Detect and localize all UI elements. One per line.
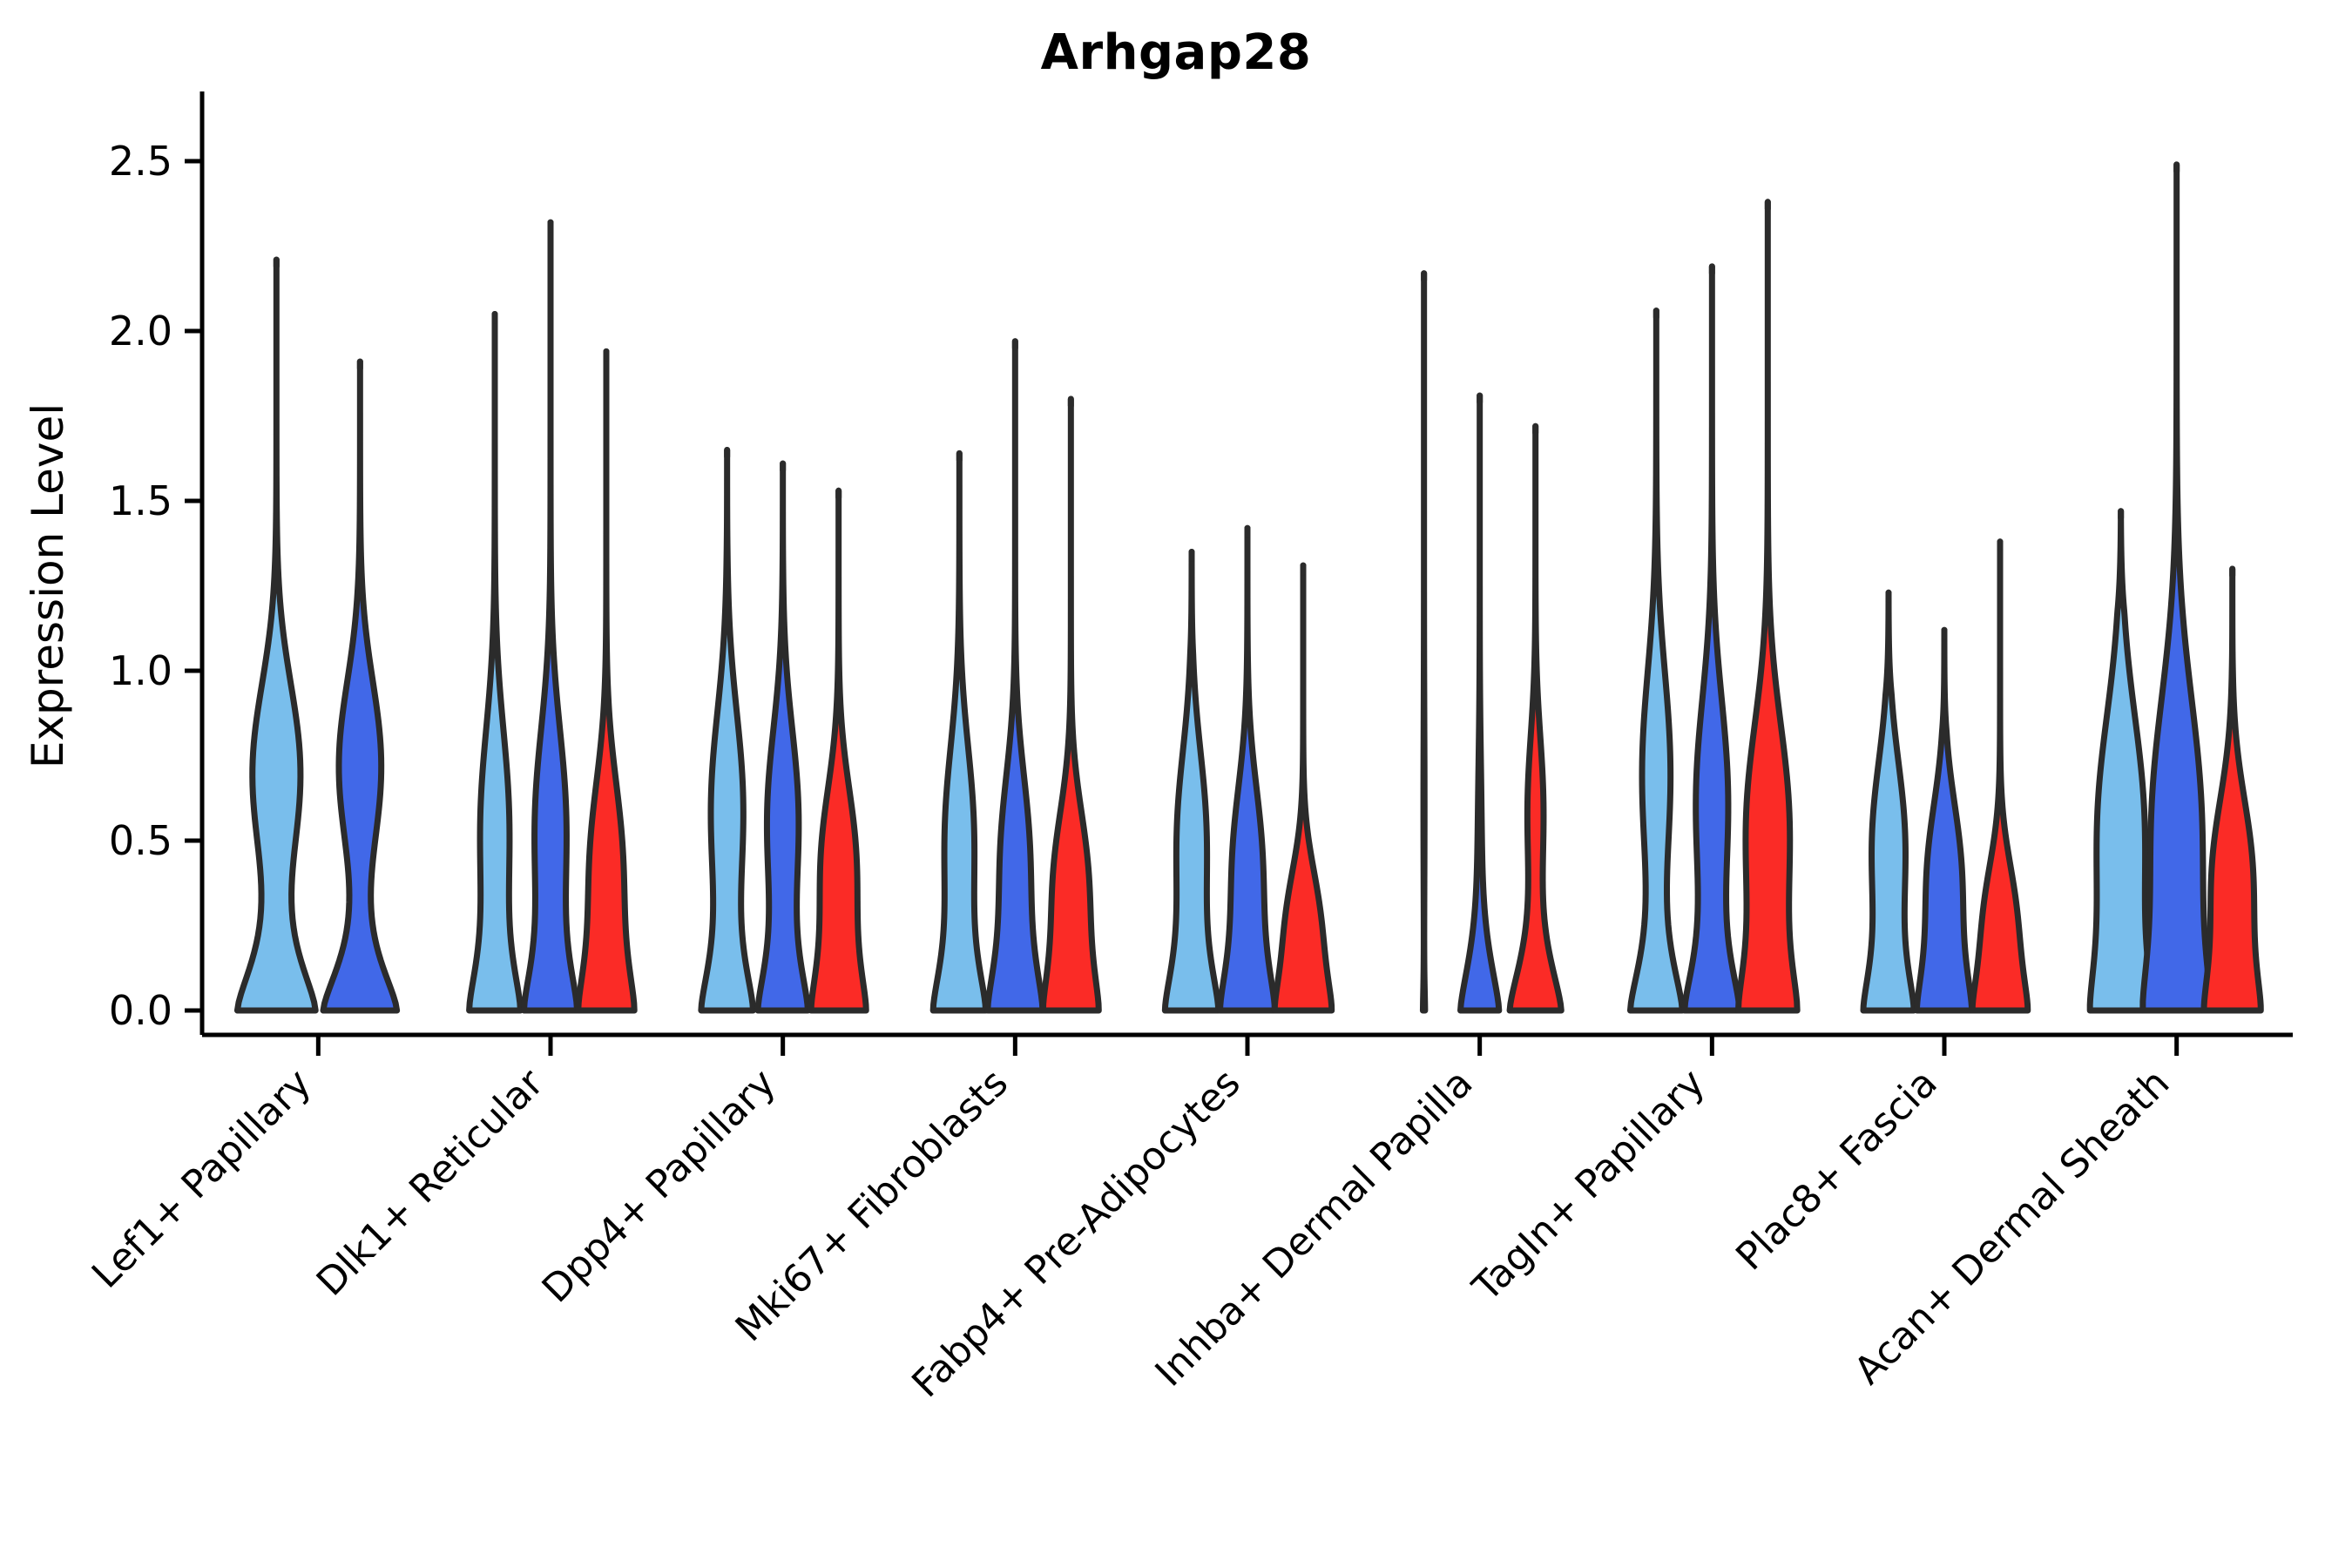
violin-shape[interactable] <box>1510 426 1561 1010</box>
violin-group <box>470 222 635 1010</box>
x-axis-category-label: Dpp4+ Papillary <box>534 1061 785 1312</box>
violin-shape[interactable] <box>701 450 754 1011</box>
violin-shape[interactable] <box>1461 395 1499 1010</box>
x-axis-category-label: Plac8+ Fascia <box>1727 1061 1946 1280</box>
x-axis-category-label: TagIn+ Papillary <box>1463 1061 1713 1311</box>
violin-plot-figure: Arhgap28 0.00.51.01.52.02.5Expression Le… <box>0 0 2352 1568</box>
y-tick-label: 0.5 <box>109 817 172 864</box>
violin-shape[interactable] <box>524 222 578 1010</box>
violin-group <box>1423 274 1561 1010</box>
violin-shape[interactable] <box>1972 542 2028 1010</box>
x-axis-category-label: Dlk1+ Reticular <box>308 1060 553 1305</box>
violin-group <box>1165 528 1331 1010</box>
violin-shape[interactable] <box>1274 565 1331 1010</box>
violin-shape[interactable] <box>811 490 866 1010</box>
violin-group <box>237 260 396 1010</box>
violin-shape[interactable] <box>988 341 1043 1010</box>
violin-plot-canvas: 0.00.51.01.52.02.5Expression LevelLef1+ … <box>0 0 2352 1568</box>
violin-shape[interactable] <box>1916 630 1971 1010</box>
violin-shape[interactable] <box>1685 267 1740 1010</box>
violin-shape[interactable] <box>237 260 315 1010</box>
violin-shape[interactable] <box>1165 552 1218 1011</box>
violin-group <box>1630 202 1797 1010</box>
y-tick-label: 1.5 <box>109 477 172 524</box>
violin-shape[interactable] <box>1630 311 1682 1010</box>
y-tick-label: 2.5 <box>109 138 172 185</box>
y-tick-label: 1.0 <box>109 647 172 694</box>
y-tick-label: 2.0 <box>109 308 172 355</box>
violin-shape[interactable] <box>1043 399 1098 1010</box>
violin-group <box>1863 542 2028 1010</box>
violin-shape[interactable] <box>323 362 397 1010</box>
x-axis-category-label: Lef1+ Papillary <box>84 1061 320 1297</box>
violin-shape[interactable] <box>758 463 808 1010</box>
violins-layer <box>237 165 2261 1010</box>
violin-group <box>933 341 1098 1010</box>
violin-shape[interactable] <box>1220 528 1275 1010</box>
violin-shape[interactable] <box>578 351 634 1010</box>
violin-shape[interactable] <box>1863 592 1914 1010</box>
y-axis-title: Expression Level <box>23 403 73 768</box>
violin-shape[interactable] <box>1423 274 1424 1010</box>
y-tick-label: 0.0 <box>109 987 172 1034</box>
violin-group <box>701 450 866 1011</box>
violin-shape[interactable] <box>933 453 985 1010</box>
violin-shape[interactable] <box>2143 165 2211 1010</box>
violin-shape[interactable] <box>470 314 521 1011</box>
violin-group <box>2090 165 2261 1010</box>
violin-shape[interactable] <box>2204 569 2261 1010</box>
violin-shape[interactable] <box>1739 202 1798 1010</box>
violin-shape[interactable] <box>2090 511 2152 1010</box>
